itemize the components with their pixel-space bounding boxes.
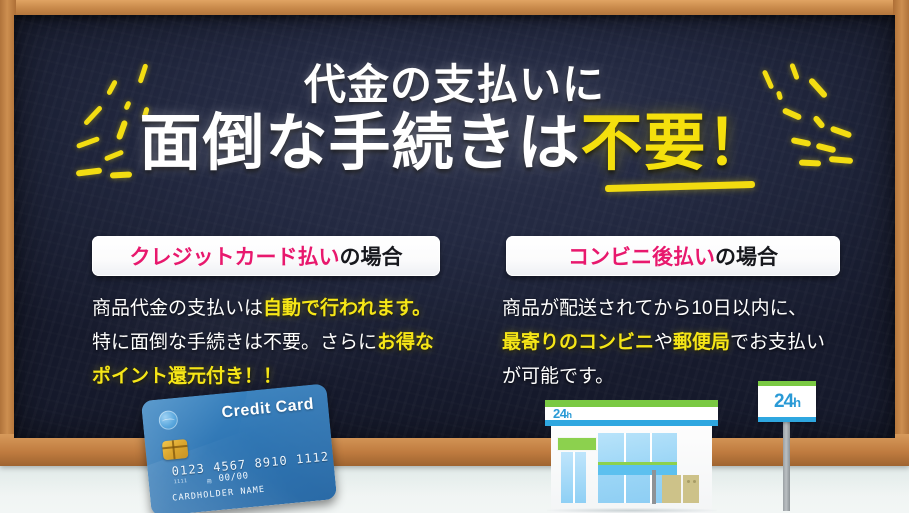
store-ground-shadow	[547, 508, 717, 513]
awning-24h-label: 24h	[553, 406, 571, 421]
badge-credit-card-highlight: クレジットカード払い	[130, 241, 340, 271]
store-crate-1	[662, 475, 681, 503]
credit-card-face: Credit Card 0123 4567 8910 1112 1111 冊 0…	[141, 383, 337, 513]
window-blue-band	[598, 465, 677, 475]
body-run: 商品が配送されてから10日以内に、	[502, 298, 807, 319]
body-line: 特に面倒な手続きは不要。さらにお得な	[92, 326, 434, 360]
body-run: や	[654, 332, 673, 353]
blackboard: 代金の支払いに 面倒な手続きは不要！ クレジットカード払いの場合 コンビニ後払い…	[14, 15, 895, 438]
headline-line-1: 代金の支払いに	[14, 51, 895, 112]
sign-pole	[783, 422, 790, 511]
body-run: 商品代金の支払いは	[92, 298, 263, 319]
awning-24h-number: 24	[553, 406, 566, 421]
globe-icon	[158, 410, 179, 431]
headline-line-2-yellow: 不要！	[581, 109, 770, 178]
body-text-credit-card: 商品代金の支払いは自動で行われます。特に面倒な手続きは不要。さらにお得なポイント…	[92, 292, 434, 394]
headline-line-2: 面倒な手続きは不要！	[14, 113, 895, 175]
body-text-convenience-store: 商品が配送されてから10日以内に、最寄りのコンビニや郵便局でお支払いが可能です。	[502, 292, 825, 394]
body-line: 商品が配送されてから10日以内に、	[502, 292, 825, 326]
sign-green-stripe	[758, 381, 816, 386]
badge-convenience-store-highlight: コンビニ後払い	[568, 241, 715, 271]
awning-24h-unit: h	[566, 410, 571, 420]
sign-24h-number: 24	[774, 391, 793, 412]
body-emphasis: お得な	[377, 332, 434, 353]
body-line: 商品代金の支払いは自動で行われます。	[92, 292, 434, 326]
body-run: 特に面倒な手続きは不要。さらに	[92, 332, 377, 353]
convenience-store-illustration: 24h	[541, 400, 726, 513]
sign-24h-unit: h	[793, 395, 800, 410]
store-wall-sign	[557, 437, 597, 451]
store-crate-2	[683, 475, 699, 503]
body-run: が可能です。	[502, 366, 614, 387]
body-emphasis: 郵便局	[673, 332, 730, 353]
headline-line-2-white: 面倒な手続きは	[139, 109, 580, 178]
store-bollard	[652, 470, 656, 504]
door-divider	[573, 452, 575, 503]
body-run: でお支払い	[730, 332, 825, 353]
badge-credit-card-suffix: の場合	[340, 241, 403, 271]
sign-24h-label: 24h	[758, 387, 816, 418]
body-emphasis: 最寄りのコンビニ	[502, 332, 654, 353]
badge-convenience-store[interactable]: コンビニ後払いの場合	[506, 236, 840, 276]
body-line: 最寄りのコンビニや郵便局でお支払い	[502, 326, 825, 360]
body-emphasis: 自動で行われます。	[263, 298, 431, 319]
chip-icon	[162, 439, 189, 460]
card-expiry-label: 冊	[207, 478, 213, 485]
frame-right-rail	[893, 0, 909, 466]
sign-board: 24h	[758, 381, 816, 422]
badge-convenience-store-suffix: の場合	[715, 241, 778, 271]
sign-blue-stripe	[758, 417, 816, 422]
promo-banner: 代金の支払いに 面倒な手続きは不要！ クレジットカード払いの場合 コンビニ後払い…	[0, 0, 909, 513]
store-pole-sign: 24h	[758, 381, 816, 513]
credit-card-illustration: Credit Card 0123 4567 8910 1112 1111 冊 0…	[146, 392, 342, 513]
body-emphasis: ポイント還元付き！！	[92, 366, 282, 387]
badge-credit-card[interactable]: クレジットカード払いの場合	[92, 236, 440, 276]
